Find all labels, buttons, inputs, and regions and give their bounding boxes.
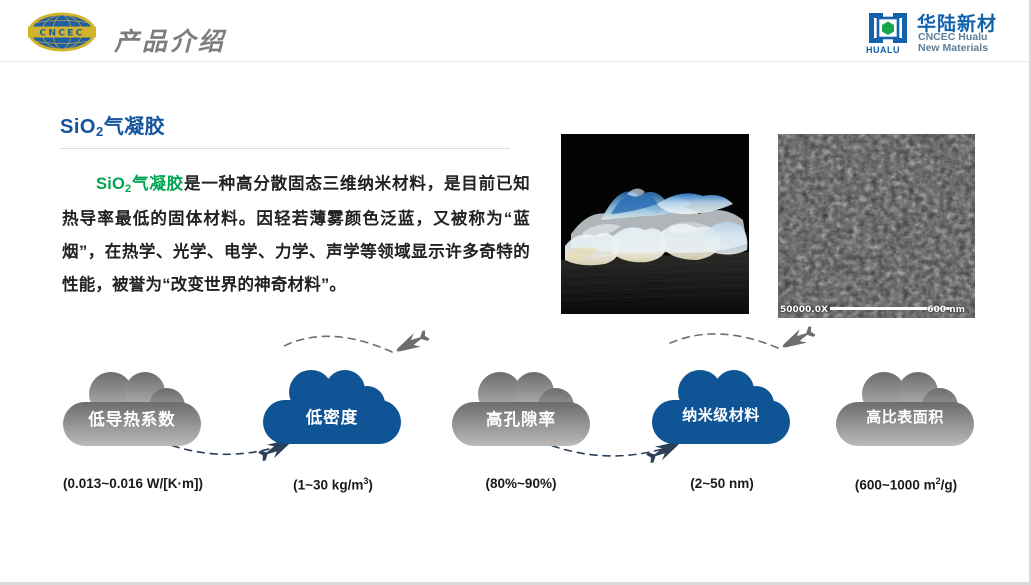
property-cloud-3[interactable]: 高孔隙率 (448, 368, 594, 452)
section-title: SiO2气凝胶 (60, 114, 530, 142)
property-caption-5: (600~1000 m2/g) (791, 476, 1021, 493)
caption-5-base: (600~1000 m (855, 478, 936, 493)
section-title-subscript: 2 (96, 124, 104, 139)
section-divider (60, 148, 510, 149)
property-caption-3: (80%~90%) (406, 476, 636, 491)
hualu-wordmark: HUALU (866, 45, 900, 55)
property-caption-1: (0.013~0.016 W/[K·m]) (18, 476, 248, 491)
section-heading: SiO2气凝胶 (60, 114, 530, 149)
slide-canvas: CNCEC 产品介绍 HUALU 华陆新材 CNCEC Hualu New Ma… (0, 0, 1031, 585)
lead-prefix: SiO (96, 175, 125, 193)
paragraph-lead-term: SiO2气凝胶 (96, 175, 184, 193)
sem-scale-length-label: 600 nm (927, 305, 965, 315)
cncec-globe-logo: CNCEC (22, 11, 102, 53)
slide-header: CNCEC 产品介绍 HUALU 华陆新材 CNCEC Hualu New Ma… (0, 0, 1031, 62)
hualu-logo: HUALU 华陆新材 CNCEC Hualu New Materials (865, 9, 1013, 55)
section-title-suffix: 气凝胶 (104, 116, 166, 138)
section-title-prefix: SiO (60, 116, 96, 138)
sem-scale-bar-group: 50000.0X 600 nm (778, 303, 975, 316)
aerogel-sample-photo (561, 134, 749, 314)
svg-text:CNCEC: CNCEC (39, 27, 84, 38)
caption-5-tail: /g) (941, 478, 958, 493)
lead-suffix: 气凝胶 (131, 175, 184, 193)
caption-2-base: (1~30 kg/m (293, 478, 363, 493)
lead-subscript: 2 (125, 183, 131, 195)
property-cloud-1[interactable]: 低导热系数 (59, 368, 205, 452)
body-paragraph: SiO2气凝胶是一种高分散固态三维纳米材料，是目前已知热导率最低的固体材料。因轻… (62, 168, 530, 302)
page-title: 产品介绍 (114, 22, 226, 58)
property-cloud-4[interactable]: 纳米级材料 (648, 366, 794, 450)
cloud-shape (652, 370, 790, 444)
cloud-shape (263, 370, 401, 444)
cloud-shape (63, 372, 201, 446)
caption-2-tail: ) (368, 478, 373, 493)
property-cloud-5[interactable]: 高比表面积 (832, 368, 978, 452)
sem-micrograph: 50000.0X 600 nm (778, 134, 975, 318)
cloud-shape (452, 372, 590, 446)
cloud-shape (836, 372, 974, 446)
property-cloud-2[interactable]: 低密度 (259, 366, 405, 450)
hualu-company-en-line2: New Materials (918, 42, 988, 54)
sem-magnification-label: 50000.0X (780, 305, 828, 315)
property-cloud-row: 低导热系数 低密度 (0, 326, 1031, 466)
